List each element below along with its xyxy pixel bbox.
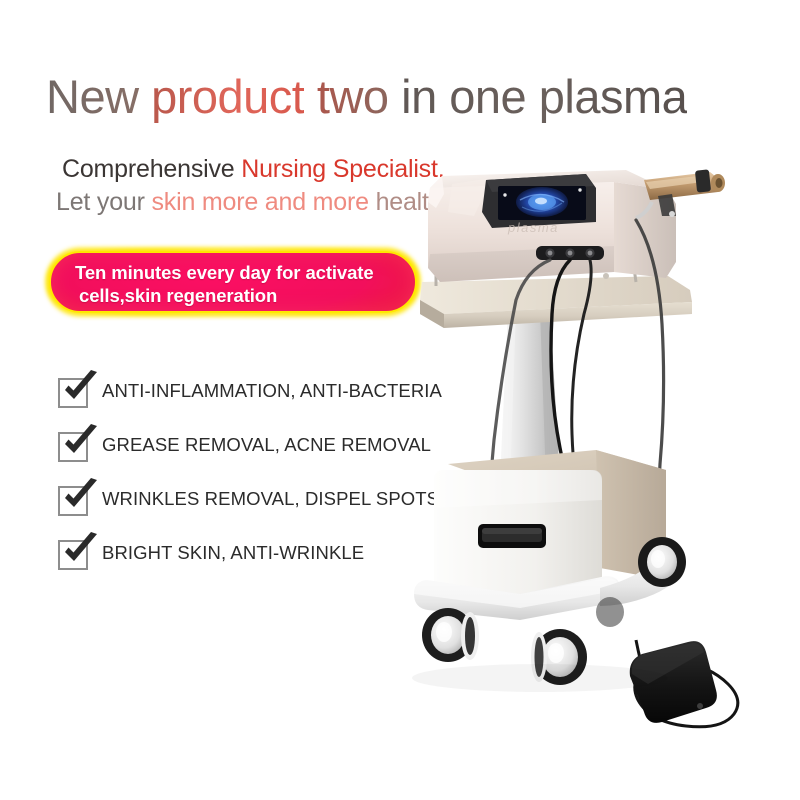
checkbox-2[interactable] [58,486,88,516]
list-item: WRINKLES REMOVAL, DISPEL SPOTS [58,482,458,536]
subtitle-line-1-a: Comprehensive [62,155,241,183]
checkbox-3[interactable] [58,540,88,570]
screen-indicator-left [503,193,506,196]
screen-indicator-right [578,188,581,191]
list-item: GREASE REMOVAL, ACNE REMOVAL [58,428,458,482]
product-illustration: plasma [400,150,800,750]
wheel-back-right [638,537,686,587]
list-item: ANTI-INFLAMMATION, ANTI-BACTERIA [58,374,458,428]
drawer-handle[interactable] [478,524,546,548]
banner-line-2: cells,skin regeneration [75,284,417,307]
banner-line-1: Ten minutes every day for activate [75,261,417,284]
banner-text: Ten minutes every day for activate cells… [51,253,417,313]
headline-part-rest: in one plasma [389,70,688,123]
highlight-banner: Ten minutes every day for activate cells… [46,248,420,316]
banner-pill: Ten minutes every day for activate cells… [49,251,417,313]
subtitle-line-2-b: skin more and more [151,188,375,216]
device-brand-text: plasma [507,220,559,235]
checkbox-0[interactable] [58,378,88,408]
subtitle-line-2-a: Let your [56,188,151,216]
checklist-label-0: ANTI-INFLAMMATION, ANTI-BACTERIA [102,380,442,402]
feature-checklist: ANTI-INFLAMMATION, ANTI-BACTERIA GREASE … [58,374,458,590]
headline-part-two: two [304,70,388,123]
wheel-front-left [422,608,479,662]
product-image: plasma [400,150,800,750]
checklist-label-1: GREASE REMOVAL, ACNE REMOVAL [102,434,431,456]
connector-panel [536,246,604,260]
headline-part-product: product [151,70,304,123]
list-item: BRIGHT SKIN, ANTI-WRINKLE [58,536,458,590]
screen-graphic [516,187,568,217]
subtitle-line-1: Comprehensive Nursing Specialist, [62,155,444,184]
wheel-back-left [596,597,624,627]
checklist-label-3: BRIGHT SKIN, ANTI-WRINKLE [102,542,364,564]
page-title: New product two in one plasma [46,68,766,130]
checklist-label-2: WRINKLES REMOVAL, DISPEL SPOTS [102,488,439,510]
headline-part-new: New [46,70,151,123]
checkbox-1[interactable] [58,432,88,462]
product-poster: New product two in one plasma Comprehens… [0,0,800,800]
